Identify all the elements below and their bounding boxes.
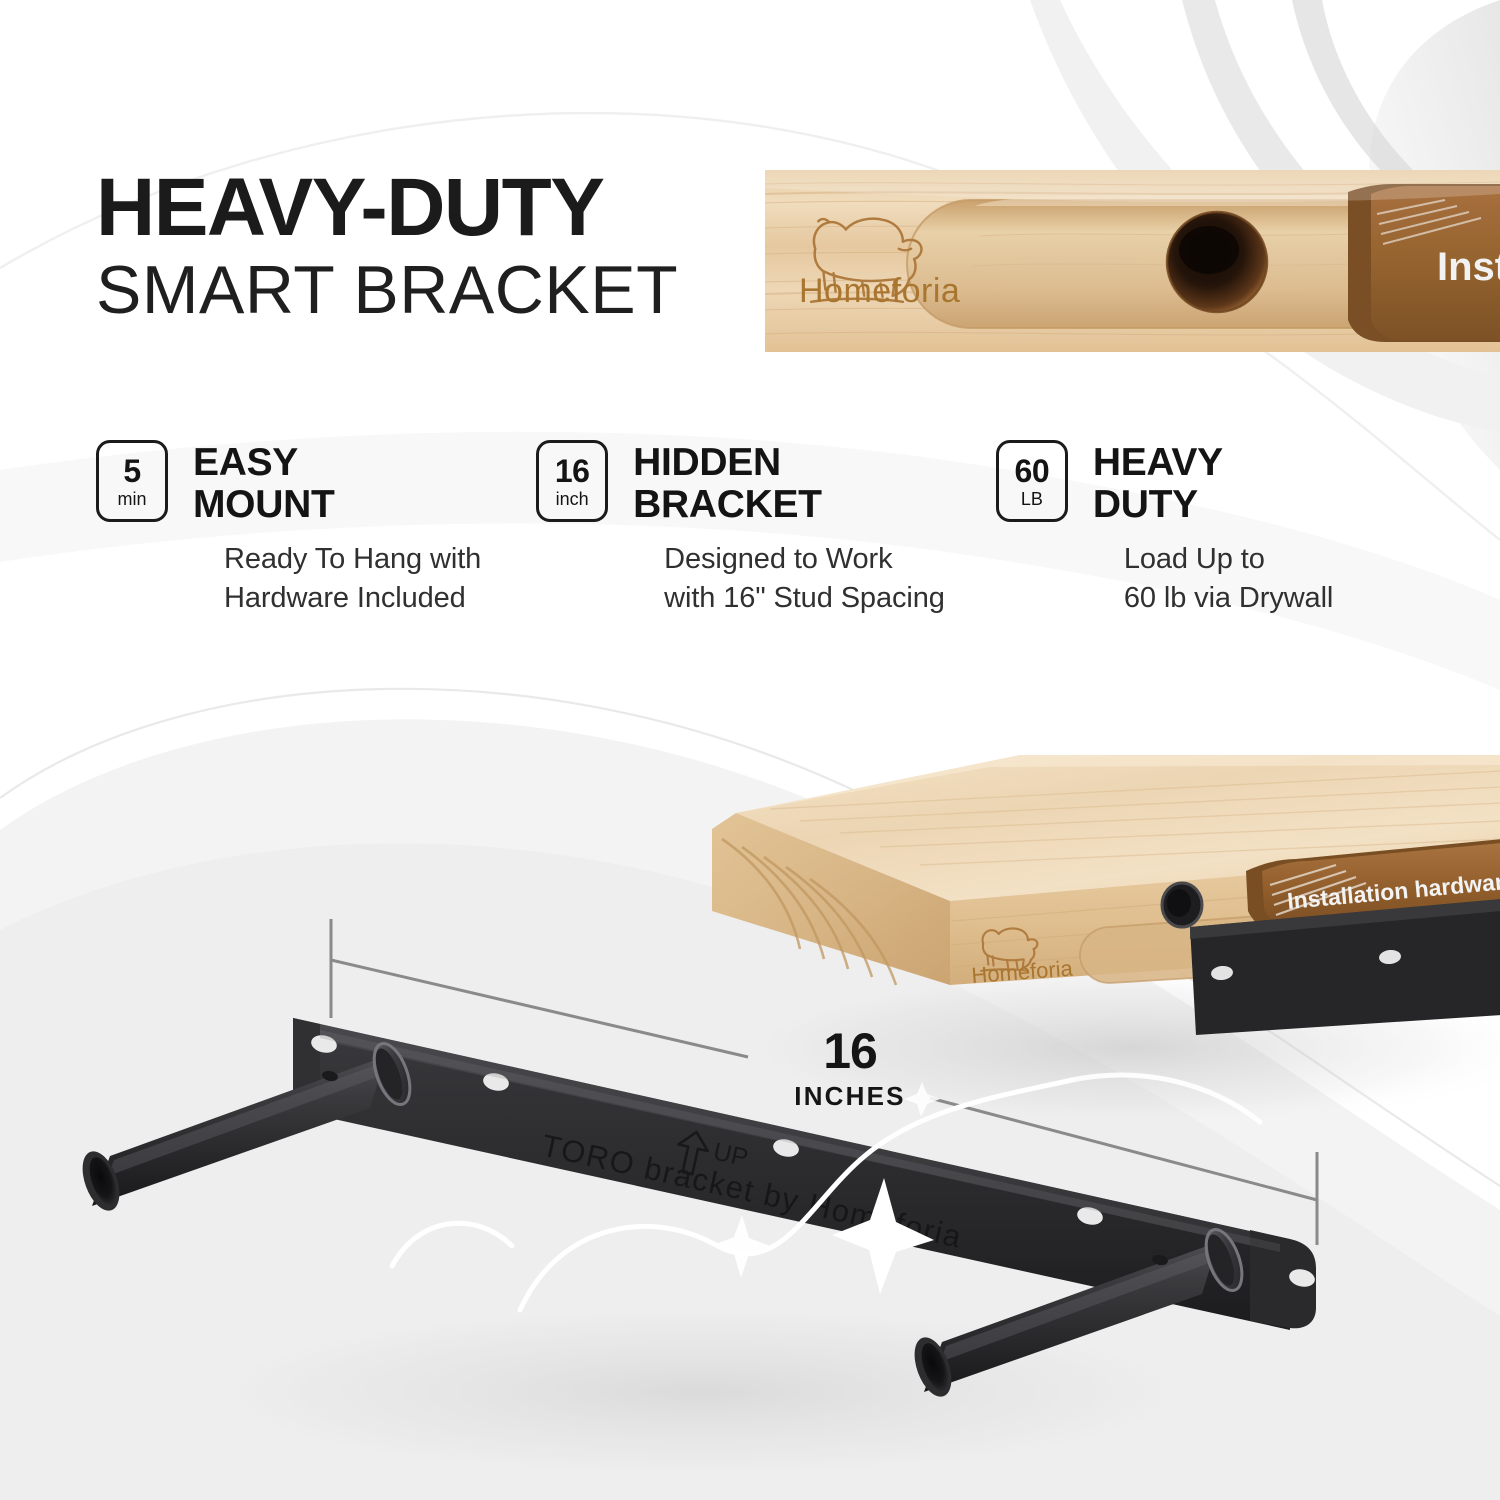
feature-desc-line-2: with 16" Stud Spacing [664,579,996,618]
badge-5-min: 5 min [96,440,168,522]
badge-unit: LB [1021,490,1043,508]
headline-line-1: HEAVY-DUTY [96,168,678,248]
feature-list: 5 min EASY MOUNT Ready To Hang with Hard… [96,440,1436,617]
headline-line-2: SMART BRACKET [96,252,678,328]
feature-title: EASY MOUNT [193,440,334,526]
feature-easy-mount: 5 min EASY MOUNT Ready To Hang with Hard… [96,440,536,617]
feature-desc-line-2: 60 lb via Drywall [1124,579,1436,618]
feature-description: Designed to Work with 16" Stud Spacing [664,540,996,617]
feature-hidden-bracket: 16 inch HIDDEN BRACKET Designed to Work … [536,440,996,617]
dimension-unit: INCHES [760,1081,940,1112]
top-brand-text: Homeforia [799,272,960,310]
badge-unit: min [117,490,146,508]
feature-title-line-1: HEAVY [1093,442,1223,484]
feature-desc-line-2: Hardware Included [224,579,536,618]
feature-title-line-1: EASY [193,442,334,484]
page-title: HEAVY-DUTY SMART BRACKET [96,168,678,329]
bracket-rod-left [75,1039,417,1216]
dimension-label: 16 INCHES [760,1026,940,1112]
feature-desc-line-1: Load Up to [1124,540,1436,579]
feature-desc-line-1: Ready To Hang with [224,540,536,579]
badge-number: 16 [555,455,590,487]
feature-description: Ready To Hang with Hardware Included [224,540,536,617]
feature-desc-line-1: Designed to Work [664,540,996,579]
top-shelf-photo: Installa H [765,170,1500,352]
feature-title-line-1: HIDDEN [633,442,822,484]
feature-description: Load Up to 60 lb via Drywall [1124,540,1436,617]
dimension-value: 16 [760,1026,940,1076]
infographic-canvas: HEAVY-DUTY SMART BRACKET [0,0,1500,1500]
top-box-label: Installa [1437,245,1500,289]
feature-title-line-2: DUTY [1093,484,1223,526]
feature-title: HIDDEN BRACKET [633,440,822,526]
bracket-product-photo: UP TORO bracket by Homeforia [0,860,1400,1500]
badge-number: 5 [123,455,140,487]
badge-60-lb: 60 LB [996,440,1068,522]
badge-16-inch: 16 inch [536,440,608,522]
feature-title-line-2: MOUNT [193,484,334,526]
badge-number: 60 [1015,455,1050,487]
feature-title-line-2: BRACKET [633,484,822,526]
badge-unit: inch [556,490,589,508]
feature-title: HEAVY DUTY [1093,440,1223,526]
feature-heavy-duty: 60 LB HEAVY DUTY Load Up to 60 lb via Dr… [996,440,1436,617]
